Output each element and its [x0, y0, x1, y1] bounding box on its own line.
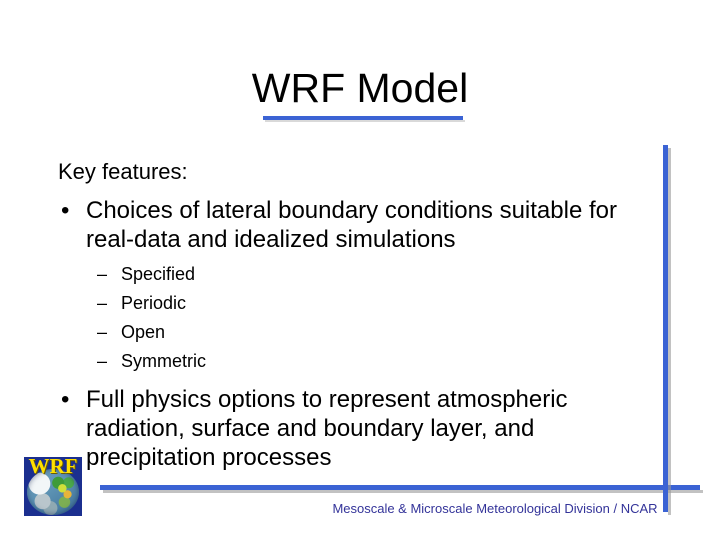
footer-text: Mesoscale & Microscale Meteorological Di…: [330, 500, 660, 517]
horizontal-accent-rule: [100, 485, 700, 490]
dash-marker-icon: –: [97, 318, 107, 347]
slide-canvas: WRF Model Key features: • Choices of lat…: [0, 0, 720, 540]
bullet-item: • Choices of lateral boundary conditions…: [58, 196, 658, 254]
sub-bullet-text: Specified: [121, 264, 195, 284]
page-title: WRF Model: [0, 64, 720, 112]
sub-bullet-text: Periodic: [121, 293, 186, 313]
vertical-accent-rule: [663, 145, 668, 512]
sub-bullet-item: – Open: [58, 318, 658, 347]
key-features-label: Key features:: [58, 157, 658, 187]
sub-bullet-item: – Specified: [58, 260, 658, 289]
wrf-logo: WRF: [24, 457, 82, 516]
wrf-logo-text: WRF: [24, 457, 82, 477]
title-underline-rule: [263, 116, 463, 120]
sub-bullet-list: – Specified – Periodic – Open – Symmetri…: [58, 260, 658, 376]
sub-bullet-item: – Periodic: [58, 289, 658, 318]
dash-marker-icon: –: [97, 289, 107, 318]
dash-marker-icon: –: [97, 347, 107, 376]
slide-body: Key features: • Choices of lateral bound…: [58, 157, 658, 472]
bullet-text: Choices of lateral boundary conditions s…: [86, 196, 658, 254]
sub-bullet-text: Open: [121, 322, 165, 342]
dash-marker-icon: –: [97, 260, 107, 289]
sub-bullet-text: Symmetric: [121, 351, 206, 371]
bullet-marker-icon: •: [61, 385, 69, 414]
sub-bullet-item: – Symmetric: [58, 347, 658, 376]
bullet-marker-icon: •: [61, 196, 69, 225]
bullet-text: Full physics options to represent atmosp…: [86, 385, 658, 472]
bullet-item: • Full physics options to represent atmo…: [58, 385, 658, 472]
